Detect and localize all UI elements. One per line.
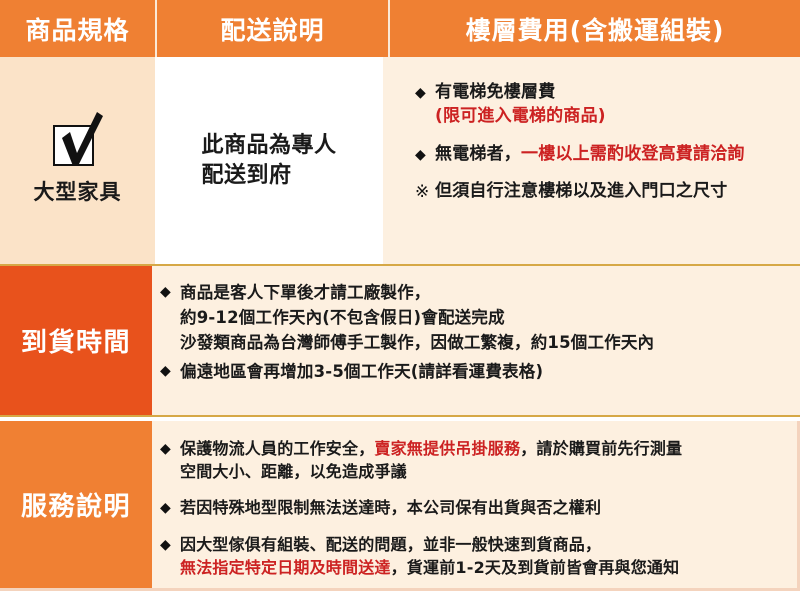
- row1-label-text: 大型家具: [34, 176, 122, 206]
- row1-delivery-cell: 此商品為專人 配送到府: [155, 57, 383, 264]
- list-item-text: 有電梯免樓層費 (限可進入電梯的商品): [435, 81, 788, 129]
- service-note-list: ◆ 保護物流人員的工作安全，賣家無提供吊掛服務，請於購買前先行測量空間大小、距離…: [160, 437, 791, 579]
- list-item: ◆ 偏遠地區會再增加3-5個工作天(請詳看運費表格): [160, 359, 792, 384]
- row3-label-cell: 服務說明: [0, 421, 152, 588]
- reference-mark-icon: ※: [415, 180, 435, 205]
- diamond-bullet-icon: ◆: [415, 143, 435, 165]
- row2-content-cell: ◆ 商品是客人下單後才請工廠製作， 約9-12個工作天內(不包含假日)會配送完成…: [152, 266, 800, 415]
- header-cell-product-spec: 商品規格: [0, 0, 155, 57]
- fee-item-2-pre: 無電梯者，: [435, 144, 521, 164]
- fee-item-1-line2: (限可進入電梯的商品): [435, 105, 788, 129]
- header-cell-delivery-note: 配送說明: [155, 0, 388, 57]
- list-item-text: 若因特殊地型限制無法送達時，本公司保有出貨與否之權利: [180, 496, 791, 519]
- diamond-bullet-icon: ◆: [160, 359, 180, 381]
- row1-delivery-text: 此商品為專人 配送到府: [201, 131, 336, 190]
- list-item: ◆ 商品是客人下單後才請工廠製作， 約9-12個工作天內(不包含假日)會配送完成…: [160, 280, 792, 355]
- table-row-service-note: 服務說明 ◆ 保護物流人員的工作安全，賣家無提供吊掛服務，請於購買前先行測量空間…: [0, 421, 800, 591]
- row1-delivery-line2: 配送到府: [201, 161, 336, 191]
- row-divider-2: [0, 415, 800, 417]
- diamond-bullet-icon: ◆: [160, 280, 180, 302]
- diamond-bullet-icon: ◆: [415, 81, 435, 103]
- table-row-arrival-time: 到貨時間 ◆ 商品是客人下單後才請工廠製作， 約9-12個工作天內(不包含假日)…: [0, 266, 800, 415]
- row1-label-cell: 大型家具: [0, 57, 155, 264]
- list-item-text: 因大型傢俱有組裝、配送的問題，並非一般快速到貨商品，無法指定特定日期及時間送達，…: [180, 533, 791, 579]
- list-item-text: 無電梯者，一樓以上需酌收登高費請洽詢: [435, 143, 788, 167]
- list-item-text: 偏遠地區會再增加3-5個工作天(請詳看運費表格): [180, 359, 792, 384]
- row2-label-cell: 到貨時間: [0, 266, 152, 415]
- row1-delivery-line1: 此商品為專人: [201, 131, 336, 161]
- service-3-line2: 無法指定特定日期及時間送達，貨運前1-2天及到貨前皆會再與您通知: [180, 556, 791, 579]
- header-cell-floor-fee: 樓層費用(含搬運組裝): [388, 0, 800, 57]
- diamond-bullet-icon: ◆: [160, 437, 180, 459]
- list-item: ◆ 有電梯免樓層費 (限可進入電梯的商品): [415, 81, 788, 129]
- diamond-bullet-icon: ◆: [160, 496, 180, 518]
- list-item-text: 保護物流人員的工作安全，賣家無提供吊掛服務，請於購買前先行測量空間大小、距離，以…: [180, 437, 791, 483]
- list-item-text: 但須自行注意樓梯以及進入門口之尺寸: [435, 180, 788, 204]
- list-item: ◆ 無電梯者，一樓以上需酌收登高費請洽詢: [415, 143, 788, 167]
- floor-fee-list: ◆ 有電梯免樓層費 (限可進入電梯的商品) ◆ 無電梯者，一樓以上需酌收登高費請…: [415, 81, 788, 205]
- service-1-line2: 空間大小、距離，以免造成爭議: [180, 460, 791, 483]
- arrival-line-1: 商品是客人下單後才請工廠製作，: [180, 280, 792, 305]
- service-1-red: 賣家無提供吊掛服務: [374, 439, 520, 458]
- row2-label-text: 到貨時間: [21, 322, 131, 359]
- checkbox-checked-icon: [47, 108, 109, 170]
- list-item: ◆ 因大型傢俱有組裝、配送的問題，並非一般快速到貨商品，無法指定特定日期及時間送…: [160, 533, 791, 579]
- table-header-row: 商品規格 配送說明 樓層費用(含搬運組裝): [0, 0, 800, 57]
- list-item-text: 商品是客人下單後才請工廠製作， 約9-12個工作天內(不包含假日)會配送完成 沙…: [180, 280, 792, 355]
- service-1-pre: 保護物流人員的工作安全，: [180, 439, 374, 458]
- arrival-time-list: ◆ 商品是客人下單後才請工廠製作， 約9-12個工作天內(不包含假日)會配送完成…: [160, 280, 792, 384]
- header-label-delivery-note: 配送說明: [220, 11, 324, 47]
- diamond-bullet-icon: ◆: [160, 533, 180, 555]
- row3-label-text: 服務說明: [21, 486, 131, 523]
- row3-content-cell: ◆ 保護物流人員的工作安全，賣家無提供吊掛服務，請於購買前先行測量空間大小、距離…: [152, 421, 797, 588]
- arrival-line-3: 沙發類商品為台灣師傅手工製作，因做工繁複，約15個工作天內: [180, 330, 792, 355]
- service-3-post: ，貨運前1-2天及到貨前皆會再與您通知: [391, 558, 680, 577]
- header-label-product-spec: 商品規格: [25, 11, 129, 47]
- list-item: ◆ 若因特殊地型限制無法送達時，本公司保有出貨與否之權利: [160, 496, 791, 519]
- service-3-pre: 因大型傢俱有組裝、配送的問題，並非一般快速到貨商品，: [180, 533, 791, 556]
- header-label-floor-fee: 樓層費用(含搬運組裝): [466, 11, 725, 47]
- table-row-large-furniture: 大型家具 此商品為專人 配送到府 ◆ 有電梯免樓層費 (限可進入電梯的商品) ◆: [0, 57, 800, 264]
- row1-floor-fee-cell: ◆ 有電梯免樓層費 (限可進入電梯的商品) ◆ 無電梯者，一樓以上需酌收登高費請…: [383, 57, 800, 264]
- service-1-post: ，請於購買前先行測量: [520, 439, 682, 458]
- check-mark-icon: [47, 108, 109, 170]
- arrival-line-2: 約9-12個工作天內(不包含假日)會配送完成: [180, 305, 792, 330]
- list-item: ※ 但須自行注意樓梯以及進入門口之尺寸: [415, 180, 788, 205]
- service-3-red: 無法指定特定日期及時間送達: [180, 558, 391, 577]
- fee-item-1-line1: 有電梯免樓層費: [435, 81, 788, 105]
- list-item: ◆ 保護物流人員的工作安全，賣家無提供吊掛服務，請於購買前先行測量空間大小、距離…: [160, 437, 791, 483]
- shipping-info-table: 商品規格 配送說明 樓層費用(含搬運組裝) 大型家具 此商品為專人 配送到府: [0, 0, 800, 595]
- fee-item-2-red: 一樓以上需酌收登高費請洽詢: [521, 144, 745, 164]
